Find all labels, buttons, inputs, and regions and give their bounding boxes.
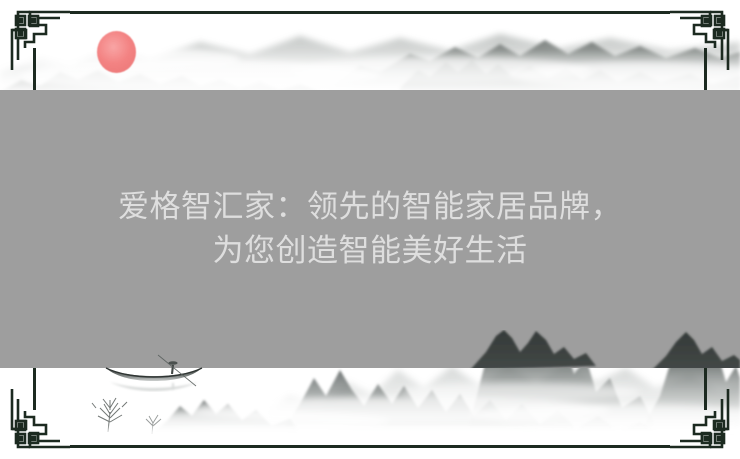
meander-corner-top-left-icon [8,8,72,72]
frame-rule-bottom [70,445,670,448]
meander-pattern [668,387,732,451]
bare-tree-icon [92,398,127,432]
banner-canvas: 爱格智汇家：领先的智能家居品牌， 为您创造智能美好生活 [0,0,740,459]
banner-headline: 爱格智汇家：领先的智能家居品牌， 为您创造智能美好生活 [50,185,690,273]
meander-corner-bottom-left-icon [8,387,72,451]
headline-container: 爱格智汇家：领先的智能家居品牌， 为您创造智能美好生活 [0,90,740,368]
frame-rule-top [70,11,670,14]
meander-corner-top-right-icon [668,8,732,72]
meander-pattern [8,8,72,72]
meander-corner-bottom-right-icon [668,387,732,451]
sun-icon [97,31,136,73]
meander-pattern [8,387,72,451]
meander-pattern [668,8,732,72]
